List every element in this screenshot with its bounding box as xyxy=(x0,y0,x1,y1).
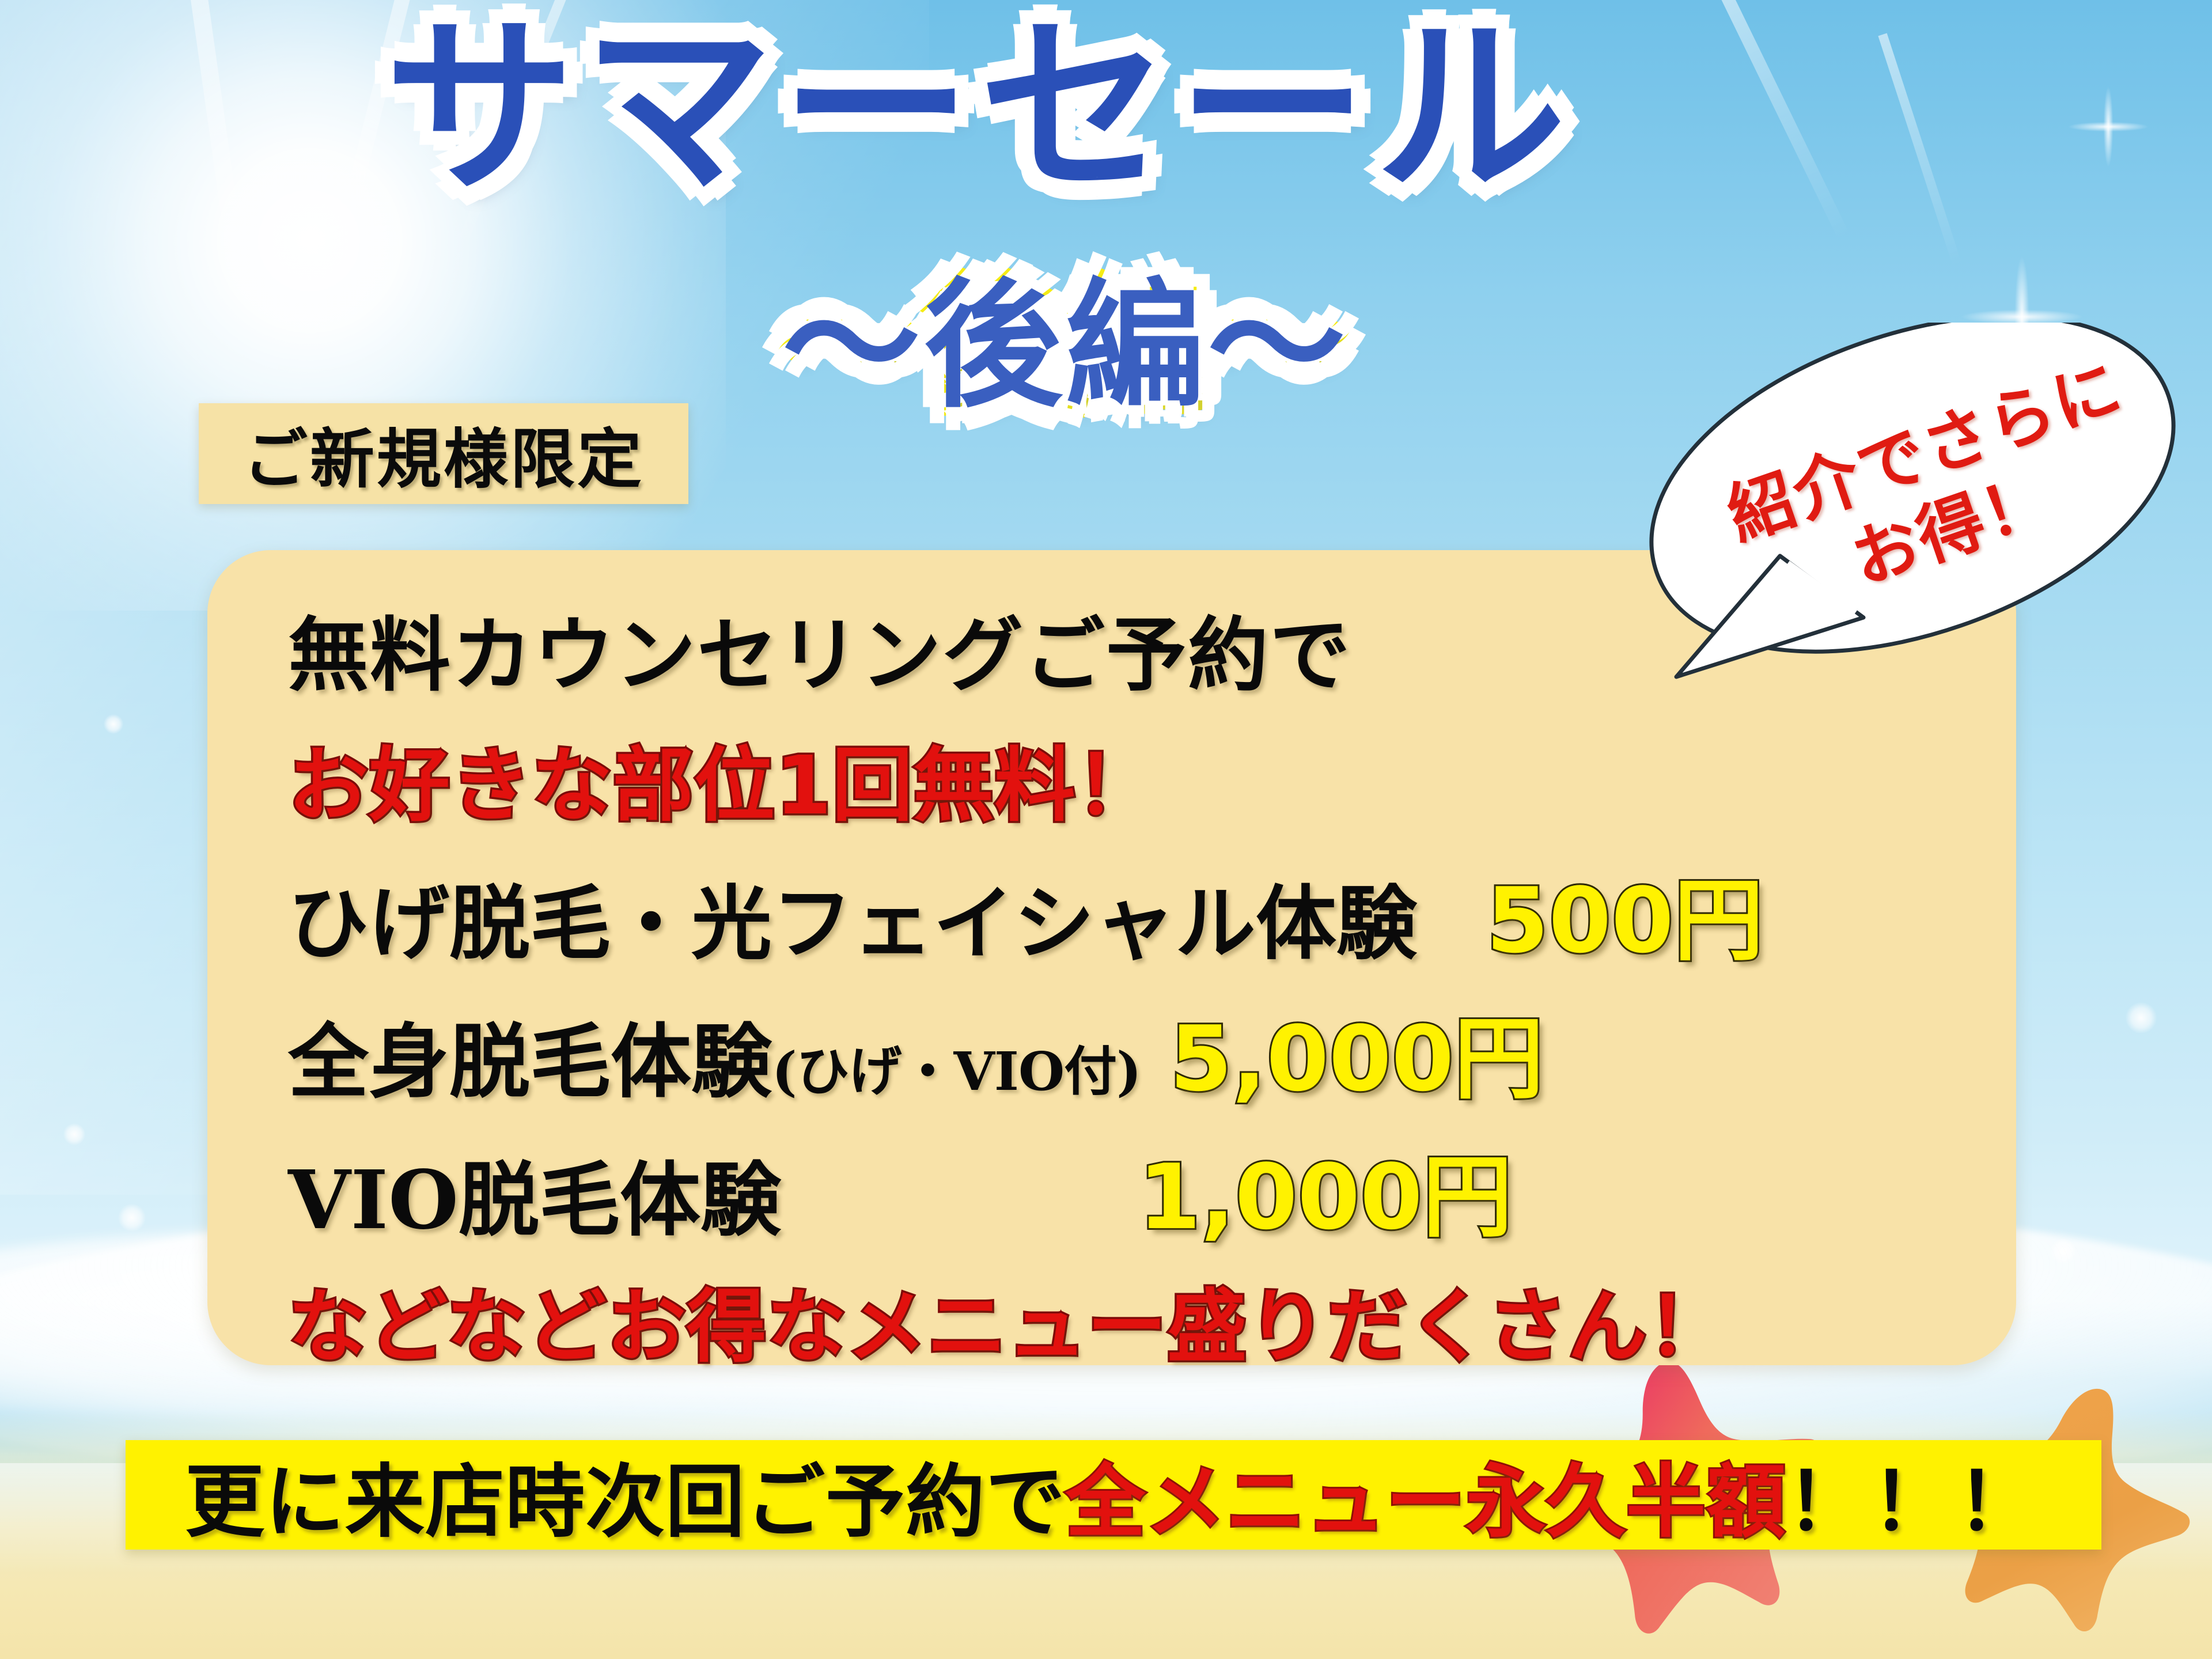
new-customer-badge-label: ご新規様限定 xyxy=(243,407,644,501)
offer-price: 500円 xyxy=(1486,847,1764,978)
page-title: サマーセール xyxy=(385,12,1574,206)
offer-footer-text: などなどお得なメニュー盛りだくさん！ xyxy=(288,1262,1970,1377)
page-subtitle: ～後編～ xyxy=(782,276,1349,415)
offer-label: ひげ脱毛・光フェイシャル体験 xyxy=(288,859,1417,975)
offer-note: (ひげ・VIO付) xyxy=(772,1029,1141,1105)
banner-exclamation: ！！！ xyxy=(1786,1437,2042,1552)
poster-subtitle-area: ～後編～ xyxy=(518,276,1613,415)
offer-label: VIO脱毛体験 xyxy=(288,1135,781,1252)
sparkle-icon xyxy=(118,1204,146,1232)
offer-price: 1,000円 xyxy=(1138,1124,1512,1254)
poster-title-area: サマーセール xyxy=(0,12,1959,206)
sparkle-icon xyxy=(2126,1002,2157,1033)
sparkle-icon xyxy=(104,714,123,734)
summer-sale-poster: サマーセール ～後編～ ご新規様限定 無料カウンセリングご予約で お好きな部位1… xyxy=(0,0,2212,1659)
banner-black-text: 更に来店時次回ご予約で xyxy=(185,1437,1066,1552)
banner-red-text: 全メニュー永久半額 xyxy=(1066,1437,1786,1552)
offer-label: 全身脱毛体験 xyxy=(288,997,772,1113)
bottom-banner: 更に来店時次回ご予約で 全メニュー永久半額 ！！！ xyxy=(126,1440,2101,1550)
offer-price: 5,000円 xyxy=(1170,986,1544,1116)
offers-panel-content: 無料カウンセリングご予約で お好きな部位1回無料！ ひげ脱毛・光フェイシャル体験… xyxy=(288,590,1970,1377)
sparkle-icon xyxy=(63,1123,85,1145)
sparkle-icon xyxy=(2051,69,2166,184)
offer-row: 全身脱毛体験 (ひげ・VIO付) 5,000円 xyxy=(288,986,1970,1116)
referral-speech-bubble: 紹介でさらに お得！ xyxy=(1607,323,2212,680)
offer-row: ひげ脱毛・光フェイシャル体験 500円 xyxy=(288,847,1970,978)
offer-row: VIO脱毛体験 1,000円 xyxy=(288,1124,1970,1254)
new-customer-badge: ご新規様限定 xyxy=(199,403,688,504)
offer-highlight-text: お好きな部位1回無料！ xyxy=(288,721,1970,837)
